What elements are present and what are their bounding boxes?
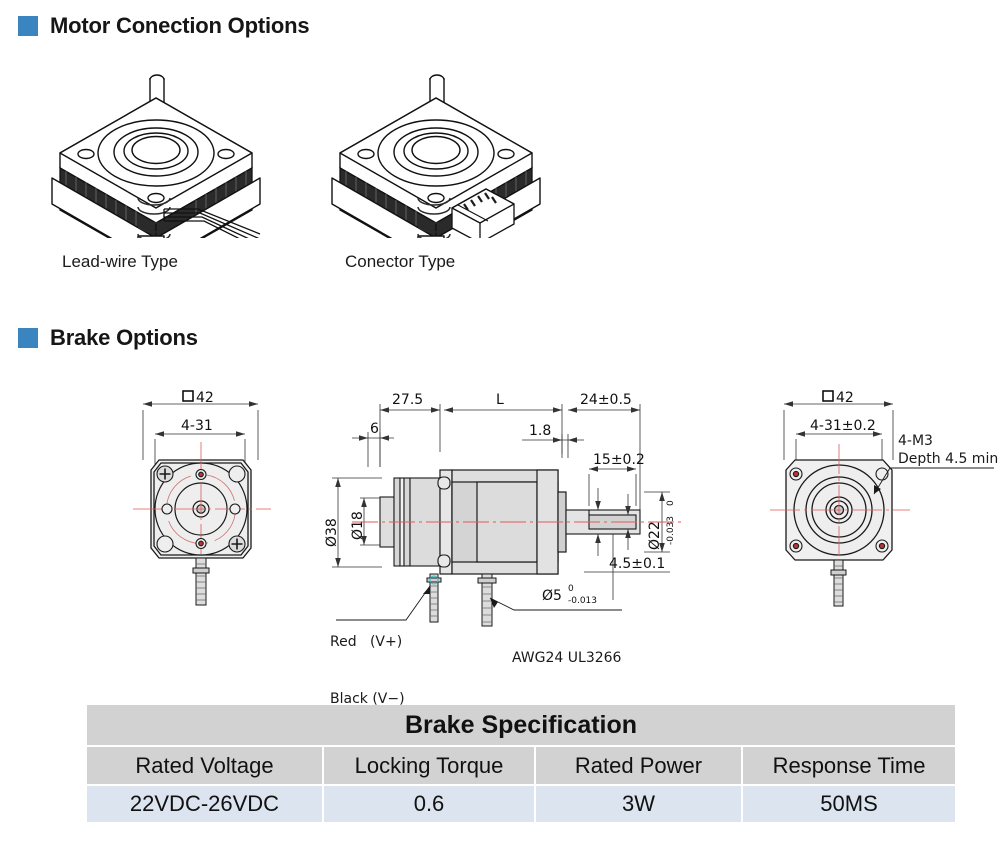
cell-response-time: 50MS [743, 786, 955, 822]
square-symbol-icon-2 [823, 391, 833, 401]
dim-pilot-dia: Ø22 [647, 521, 663, 550]
table-row: 22VDC-26VDC 0.6 3W 50MS [87, 786, 955, 822]
thread-callout-line-1: 4-M3 [898, 432, 998, 450]
brake-specification-table: Brake Specification Rated Voltage Lockin… [85, 703, 957, 824]
stepper-motor-leadwire-illustration [38, 58, 288, 238]
column-header-rated-power: Rated Power [536, 747, 741, 784]
column-header-rated-voltage: Rated Voltage [87, 747, 322, 784]
section-title-motor-connection: Motor Conection Options [50, 13, 309, 39]
dim-overall-42: 42 [196, 390, 214, 406]
dim-shaft-dia: Ø5 [542, 588, 562, 604]
dim-motor-length: L [496, 392, 504, 408]
dim-pilot-tol-upper: 0 [666, 500, 676, 506]
thread-callout-line-2: Depth 4.5 min [898, 450, 998, 468]
thread-callout: 4-M3 Depth 4.5 min [898, 432, 998, 468]
dim-flat-depth: 4.5±0.1 [609, 556, 665, 572]
stepper-motor-connector-illustration [318, 58, 568, 238]
dim-bolt-circle: 4-31 [181, 418, 213, 434]
section-title-brake-options: Brake Options [50, 325, 198, 351]
column-header-locking-torque: Locking Torque [324, 747, 534, 784]
dim-pilot-tol-lower: -0.033 [666, 516, 676, 545]
dim-boss-height: 1.8 [529, 423, 551, 439]
dim-shaft-length: 24±0.5 [580, 392, 632, 408]
dim-boss-dia: Ø18 [350, 511, 366, 540]
dim-brake-dia: Ø38 [324, 518, 340, 547]
table-title-row: Brake Specification [87, 705, 955, 745]
blue-square-bullet-icon [18, 16, 38, 36]
dim-shaft-tol-upper: 0 [568, 584, 574, 594]
brake-options-heading: Brake Options [18, 325, 198, 351]
cell-rated-voltage: 22VDC-26VDC [87, 786, 322, 822]
dim-rear-overall-42: 42 [836, 390, 854, 406]
dim-brake-length: 27.5 [392, 392, 423, 408]
brake-motor-front-view: 42 4-31 [95, 382, 320, 617]
dim-flat-length: 15±0.2 [593, 452, 645, 468]
dim-shaft-tol-lower: -0.013 [568, 596, 597, 606]
dim-flange-step: 6 [370, 421, 379, 437]
table-header-row: Rated Voltage Locking Torque Rated Power… [87, 747, 955, 784]
cell-rated-power: 3W [536, 786, 741, 822]
motor-lead-line-1: AWG24 UL3266 [512, 649, 621, 668]
table-title: Brake Specification [87, 705, 955, 745]
square-symbol-icon [183, 391, 193, 401]
column-header-response-time: Response Time [743, 747, 955, 784]
dim-rear-bolt-circle: 4-31±0.2 [810, 418, 876, 434]
motor-option-caption-connector: Conector Type [345, 252, 455, 272]
cell-locking-torque: 0.6 [324, 786, 534, 822]
blue-square-bullet-icon-2 [18, 328, 38, 348]
brake-motor-rear-view: 42 4-31±0.2 [762, 382, 1000, 617]
brake-lead-line-1: Red (V+) [330, 633, 410, 652]
motor-option-caption-leadwire: Lead-wire Type [62, 252, 178, 272]
motor-connection-options-heading: Motor Conection Options [18, 13, 309, 39]
